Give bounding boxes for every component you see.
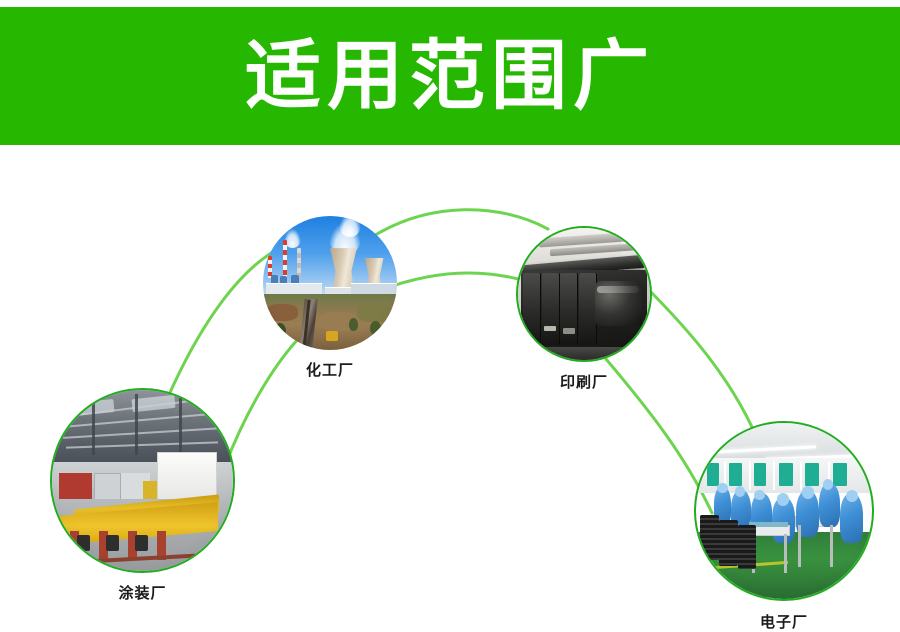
header-banner: 适用范围广 <box>0 7 900 145</box>
tree <box>370 321 381 336</box>
control-plate <box>563 328 575 333</box>
floor <box>518 347 650 360</box>
cylinder-highlight <box>597 286 639 293</box>
photo-chemical-plant <box>263 216 397 350</box>
drive-motor <box>77 535 90 551</box>
worker-cap <box>735 486 746 497</box>
drive-motor <box>106 535 119 551</box>
support-beam <box>135 394 138 456</box>
node-label-printing: 印刷厂 <box>516 371 652 392</box>
worker-cap <box>754 490 765 501</box>
node-label-coating: 涂装厂 <box>50 582 235 603</box>
node-label-electronics: 电子厂 <box>694 611 874 632</box>
component-tray-stack <box>738 525 756 569</box>
support-beam <box>179 397 182 453</box>
photo-printing-factory <box>516 226 652 362</box>
connector-coating-chemical-upper <box>168 249 278 397</box>
storage-cabinet <box>805 463 819 486</box>
printing-unit <box>542 273 560 346</box>
application-scope-diagram: 化工厂 印刷厂 <box>0 145 900 632</box>
photo-electronics-factory <box>694 421 874 601</box>
earth-patch <box>357 304 392 321</box>
storage-cabinet <box>754 463 766 486</box>
coating-machine <box>143 481 157 501</box>
cabinet-divider <box>749 462 751 490</box>
node-coating-factory[interactable]: 涂装厂 <box>50 388 235 573</box>
node-label-chemical: 化工厂 <box>263 359 397 380</box>
component-tray-stack <box>719 520 738 566</box>
node-electronics-factory[interactable]: 电子厂 <box>694 421 874 601</box>
photo-coating-factory <box>50 388 235 573</box>
worker-cap <box>777 493 789 505</box>
component-tray-stack <box>700 515 719 561</box>
worker-cap <box>717 483 728 494</box>
node-printing-factory[interactable]: 印刷厂 <box>516 226 652 362</box>
earth-patch <box>266 304 298 320</box>
cabinet-divider <box>800 462 802 490</box>
bench-leg <box>784 534 787 573</box>
tree <box>274 323 286 339</box>
bench-leg <box>798 525 801 567</box>
smokestack <box>283 240 287 278</box>
storage-cabinet <box>729 463 741 486</box>
printing-unit <box>560 273 578 346</box>
drive-motor <box>135 535 148 551</box>
storage-cabinet <box>707 463 719 486</box>
page-title: 适用范围广 <box>245 38 655 114</box>
bench-leg <box>830 525 833 567</box>
worker-cap <box>823 479 834 490</box>
worker-cap <box>802 486 814 498</box>
support-beam <box>92 397 95 455</box>
storage-cabinet <box>779 463 793 486</box>
excavator <box>326 331 338 340</box>
cabinet-divider <box>773 462 775 490</box>
printing-unit <box>523 273 541 346</box>
node-chemical-plant[interactable]: 化工厂 <box>263 216 397 350</box>
connector-printing-electronics-upper <box>644 285 752 427</box>
storage-cabinet <box>833 463 847 486</box>
smokestack <box>297 248 301 277</box>
control-plate <box>544 326 556 331</box>
tree <box>349 318 358 331</box>
worker-cap <box>846 490 858 502</box>
